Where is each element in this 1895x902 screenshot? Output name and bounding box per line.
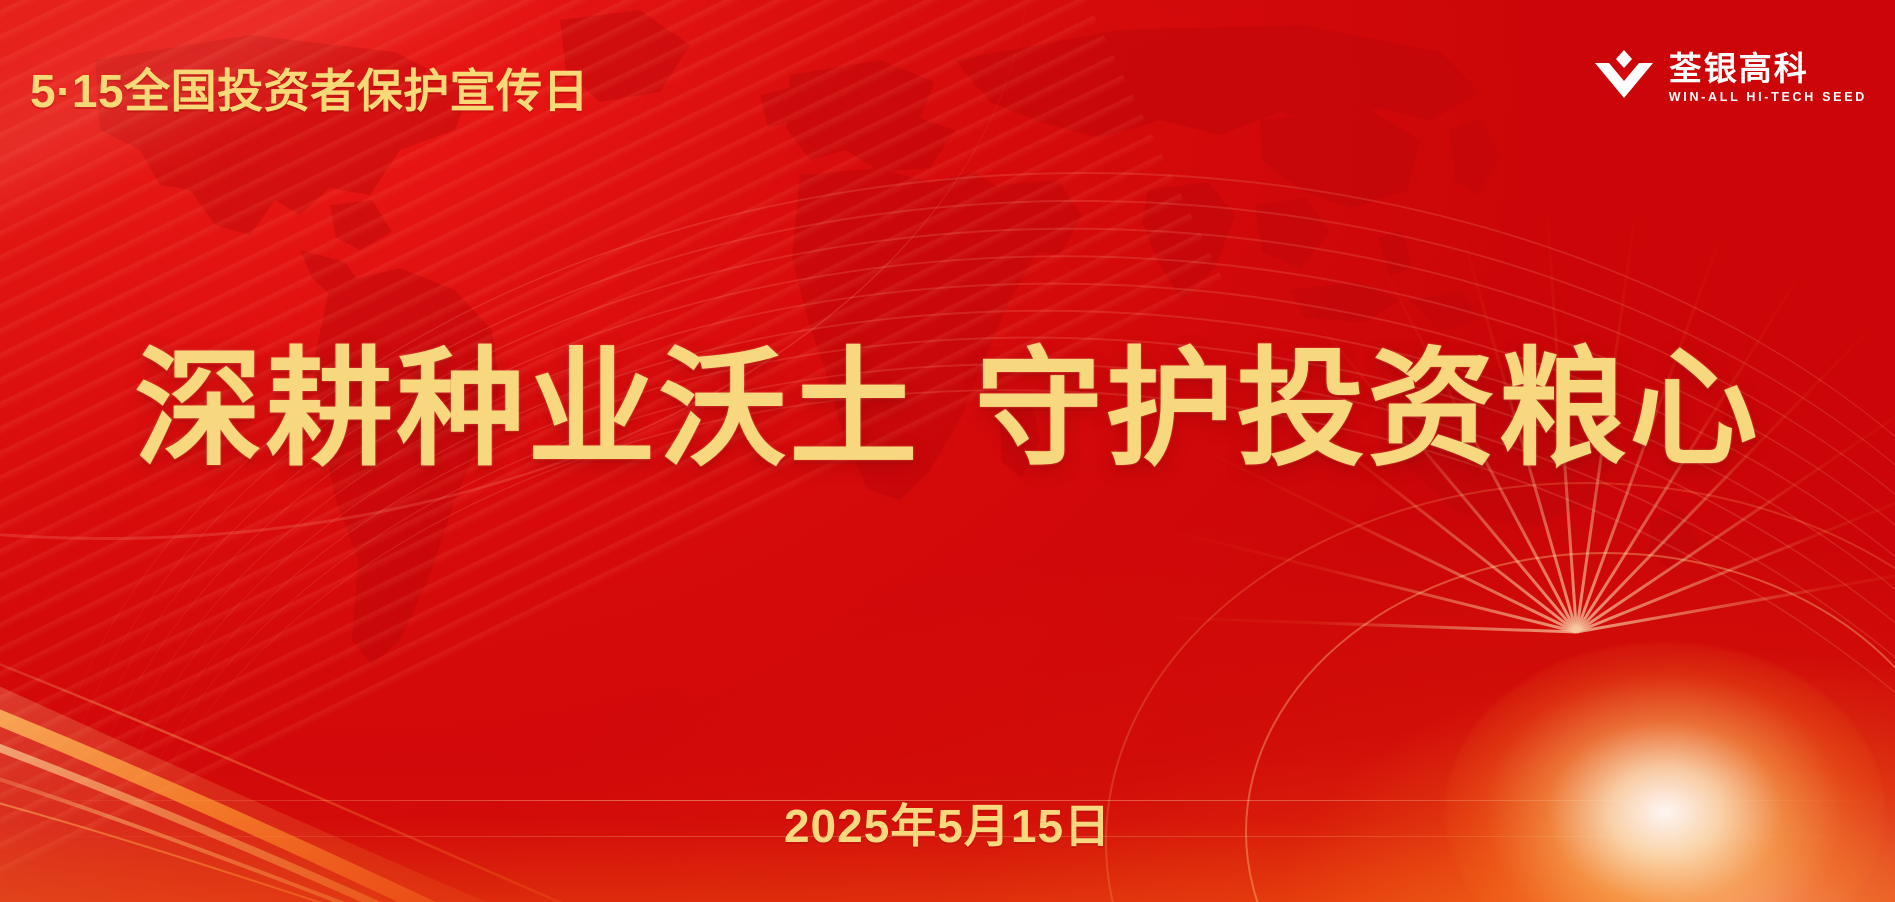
gold-light-ribbons — [0, 612, 970, 902]
page-title: 深耕种业沃土守护投资粮心 — [0, 340, 1895, 481]
event-date: 2025年5月15日 — [0, 790, 1895, 856]
main-title-part2: 守护投资粮心 — [975, 338, 1761, 481]
campaign-label: 5·15全国投资者保护宣传日 — [30, 55, 589, 121]
brand-text: 荃银高科 WIN-ALL HI-TECH SEED — [1669, 52, 1867, 104]
investor-protection-poster: 5·15全国投资者保护宣传日 荃银高科 WIN-ALL HI-TECH SEED… — [0, 0, 1895, 902]
brand-logo: 荃银高科 WIN-ALL HI-TECH SEED — [1593, 48, 1867, 108]
sunburst-glow-core — [1445, 642, 1885, 902]
brand-name-en: WIN-ALL HI-TECH SEED — [1669, 91, 1867, 104]
chevron-seed-logo-icon — [1593, 48, 1655, 108]
brand-name-cn: 荃银高科 — [1669, 52, 1867, 85]
main-title-part1: 深耕种业沃土 — [134, 338, 920, 481]
